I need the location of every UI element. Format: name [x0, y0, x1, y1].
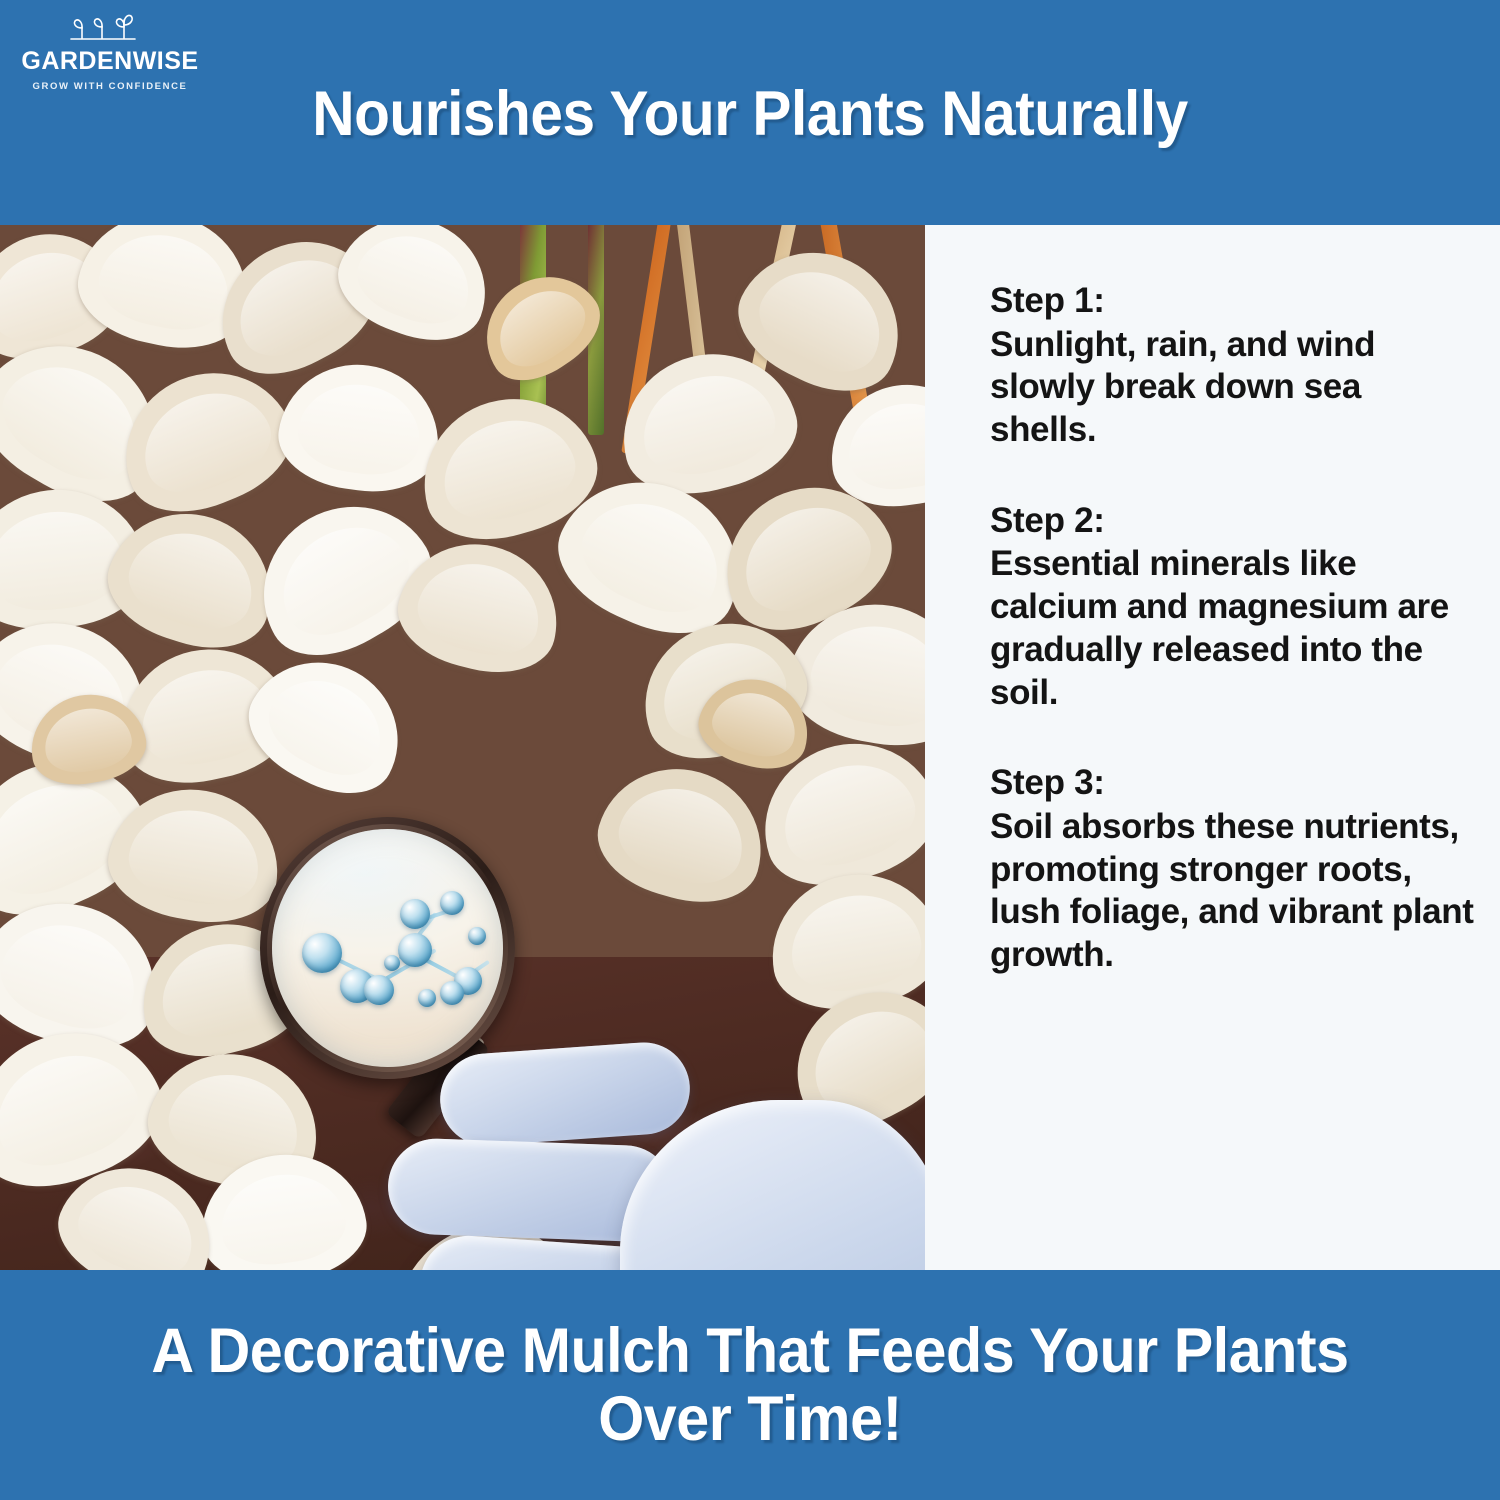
step-text: Soil absorbs these nutrients, promoting …	[990, 806, 1475, 977]
step-text: Essential minerals like calcium and magn…	[990, 543, 1475, 714]
header-banner: GARDENWISE GROW WITH CONFIDENCE Nourishe…	[0, 0, 1500, 225]
steps-panel: Step 1: Sunlight, rain, and wind slowly …	[925, 225, 1500, 1270]
magnifier-lens	[272, 829, 503, 1067]
step-item: Step 2: Essential minerals like calcium …	[990, 500, 1475, 714]
gloved-hand	[330, 1070, 925, 1270]
footer-tagline: A Decorative Mulch That Feeds Your Plant…	[45, 1317, 1455, 1453]
mineral-molecule-illustration	[272, 829, 503, 1067]
step-item: Step 1: Sunlight, rain, and wind slowly …	[990, 280, 1475, 452]
step-title: Step 3:	[990, 762, 1475, 805]
step-title: Step 2:	[990, 500, 1475, 543]
step-title: Step 1:	[990, 280, 1475, 323]
magnifying-glass	[260, 817, 515, 1079]
product-photo	[0, 225, 925, 1270]
step-item: Step 3: Soil absorbs these nutrients, pr…	[990, 762, 1475, 976]
step-text: Sunlight, rain, and wind slowly break do…	[990, 324, 1475, 452]
footer-banner: A Decorative Mulch That Feeds Your Plant…	[0, 1270, 1500, 1500]
index-finger	[437, 1039, 693, 1148]
page-headline: Nourishes Your Plants Naturally	[53, 78, 1448, 150]
infographic-page: GARDENWISE GROW WITH CONFIDENCE Nourishe…	[0, 0, 1500, 1500]
seedling-sprouts-icon	[55, 12, 165, 48]
content-area: Step 1: Sunlight, rain, and wind slowly …	[0, 225, 1500, 1270]
brand-name: GARDENWISE	[20, 49, 200, 74]
